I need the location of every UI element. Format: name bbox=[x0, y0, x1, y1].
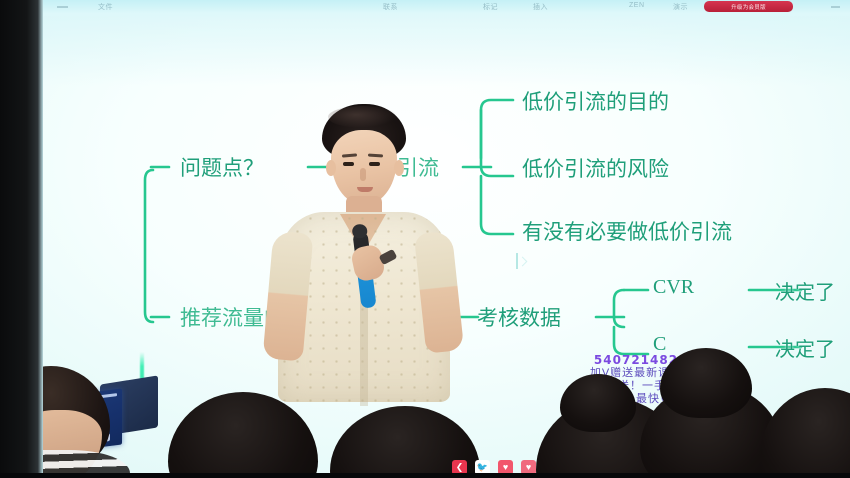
presenter-eye-right bbox=[369, 162, 380, 166]
frame-left-edge bbox=[0, 0, 43, 478]
presenter-ear-left bbox=[326, 160, 336, 176]
presenter-nose bbox=[360, 168, 366, 181]
presenter-eye-left bbox=[343, 162, 354, 166]
video-frame: 文件 联系 标记 插入 ZEN 演示 格式 升级为会员版 bbox=[0, 0, 850, 478]
watermark-line-1: 加V赠送最新课程 bbox=[582, 367, 690, 380]
presenter bbox=[262, 104, 467, 404]
presenter-ear-right bbox=[394, 160, 404, 176]
mindmap-node-cvr-out[interactable]: 决定了 bbox=[775, 276, 835, 305]
presenter-face bbox=[331, 130, 397, 204]
text-cursor bbox=[516, 253, 518, 269]
light-beam-artifact bbox=[140, 352, 144, 430]
mindmap-node-b1c1[interactable]: 低价引流的目的 bbox=[522, 86, 669, 116]
mindmap-node-b1c2[interactable]: 低价引流的风险 bbox=[522, 153, 669, 183]
watermark-line-3: 防断更！最快更新 bbox=[582, 393, 690, 406]
watermark: 540721482 加V赠送最新课程 秒加秒送！一手课！ 防断更！最快更新 bbox=[582, 353, 690, 406]
mindmap-node-b2c1[interactable]: 考核数据 bbox=[477, 302, 561, 332]
mindmap-node-cvr[interactable]: CVR bbox=[653, 276, 694, 299]
watermark-line-2: 秒加秒送！一手课！ bbox=[582, 380, 690, 393]
frame-bottom-edge bbox=[0, 473, 850, 478]
mindmap-node-b1c3[interactable]: 有没有必要做低价引流 bbox=[522, 216, 732, 246]
watermark-id: 540721482 bbox=[582, 353, 690, 367]
mindmap-node-cvr2-out[interactable]: 决定了 bbox=[775, 333, 835, 362]
presenter-mouth bbox=[357, 187, 373, 192]
mindmap-node-root[interactable]: 问题点？ bbox=[180, 152, 264, 182]
